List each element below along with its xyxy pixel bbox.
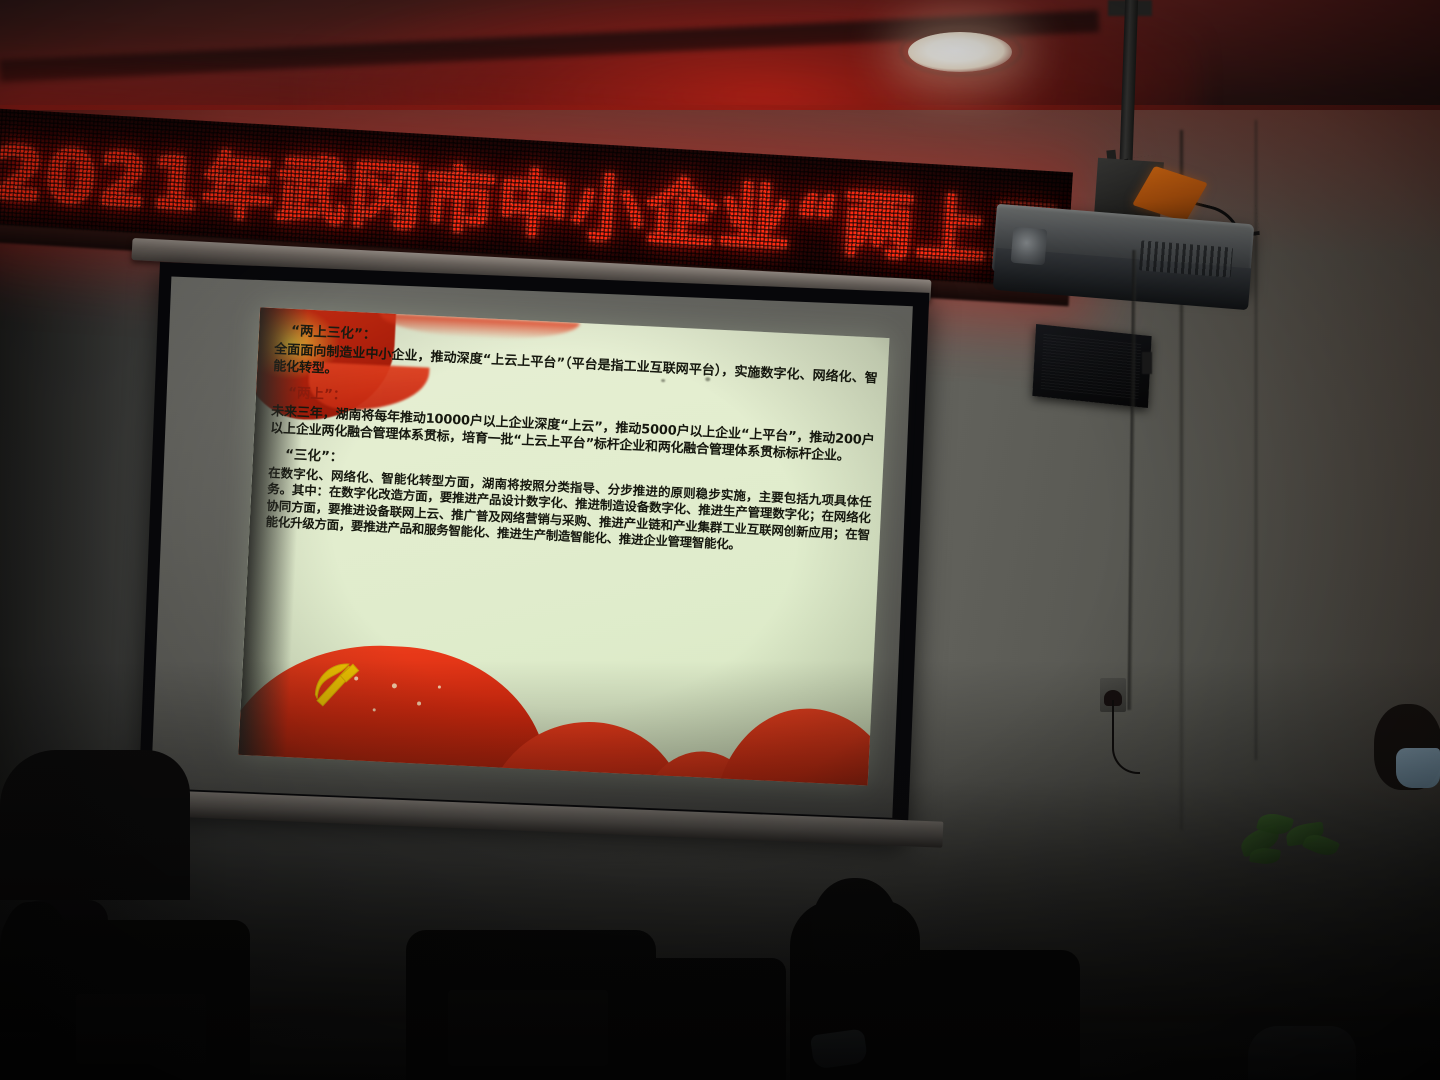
ceiling-light: [908, 32, 1012, 72]
slide-text-body: “两上三化”： 全面面向制造业中小企业，推动深度“上云上平台”（平台是指工业互联…: [265, 322, 879, 569]
wall-speaker-mount: [1142, 352, 1152, 374]
projector-lens: [1011, 227, 1048, 266]
wall-speaker-grille: [1041, 333, 1142, 399]
room-bottom-shadow: [0, 660, 1440, 1080]
conference-room-photo: 2021年武冈市中小企业“两上三化”培训推进会 “两上三化”： 全面面向制造业中…: [0, 0, 1440, 1080]
